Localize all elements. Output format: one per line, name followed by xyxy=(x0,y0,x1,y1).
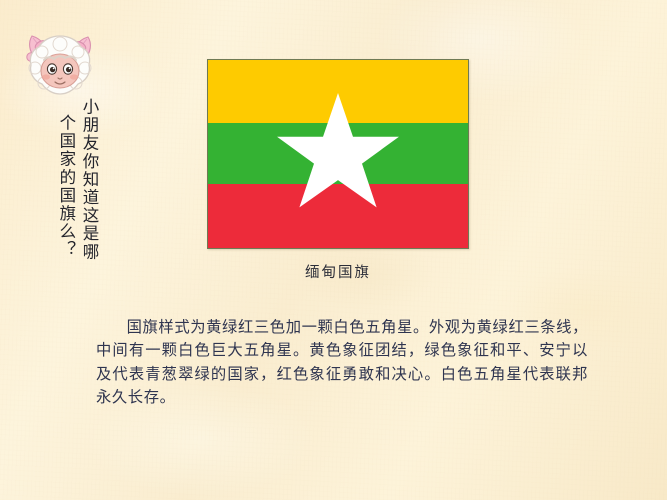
flag-figure: 缅甸国旗 xyxy=(207,59,469,282)
sheep-head-icon xyxy=(22,26,98,100)
flag-description-paragraph: 国旗样式为黄绿红三色加一颗白色五角星。外观为黄绿红三条线，中间有一颗白色巨大五角… xyxy=(96,316,588,409)
question-vertical-text: 小朋友你知道这是哪 个国家的国旗么？ xyxy=(30,98,100,288)
question-column-left: 个国家的国旗么？ xyxy=(56,114,77,259)
white-five-pointed-star-icon xyxy=(273,91,403,218)
flag-caption: 缅甸国旗 xyxy=(207,261,469,282)
question-column-right: 小朋友你知道这是哪 xyxy=(79,98,100,261)
slide-canvas: 小朋友你知道这是哪 个国家的国旗么？ 缅甸国旗 国旗样式为黄绿红三色加一颗白色五… xyxy=(0,0,667,500)
myanmar-flag-image xyxy=(207,59,469,249)
